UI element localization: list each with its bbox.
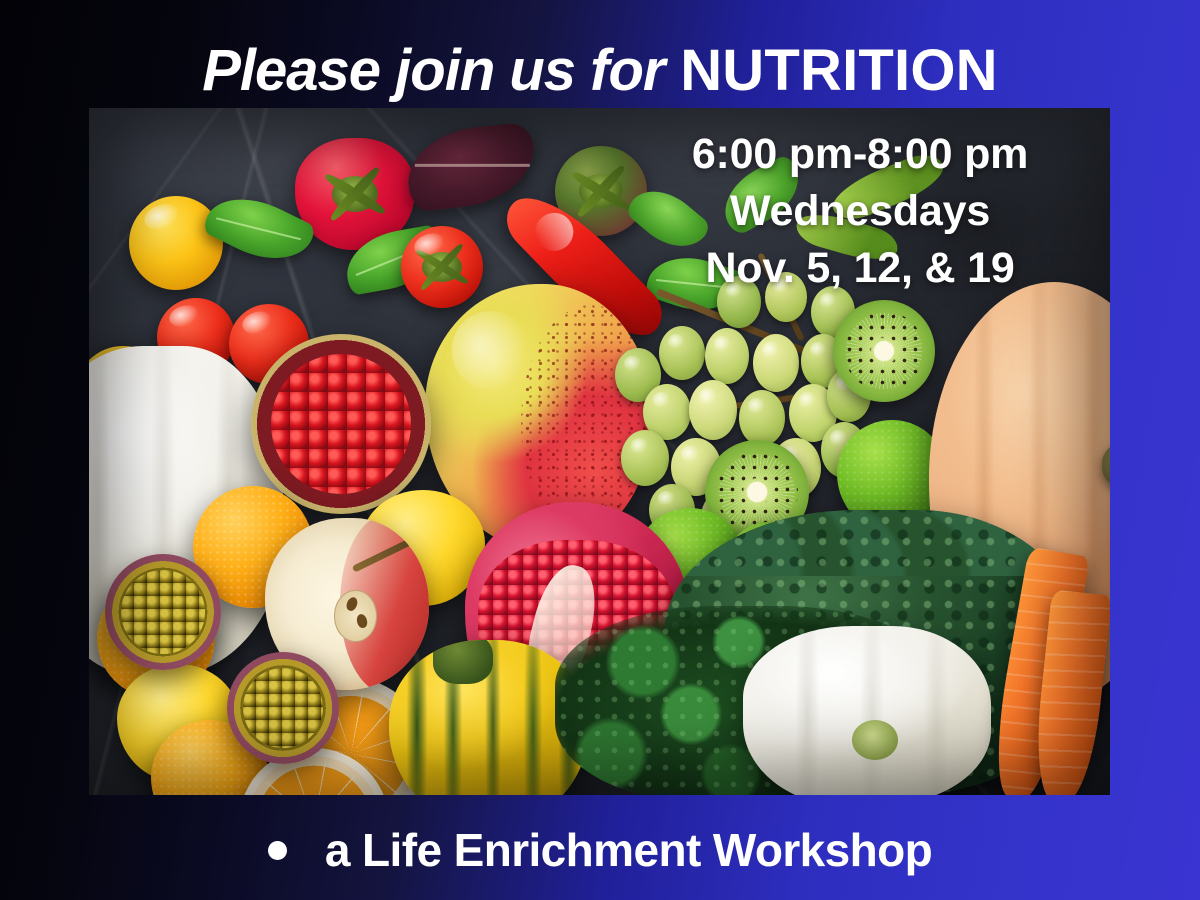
grape-icon	[739, 390, 785, 446]
passion-fruit-pulp	[121, 570, 205, 654]
event-details: 6:00 pm-8:00 pm Wednesdays Nov. 5, 12, &…	[600, 126, 1120, 297]
headline-italic-part: Please join us for	[202, 38, 664, 103]
footer-bullet-line: a Life Enrichment Workshop	[0, 822, 1200, 878]
grape-icon	[621, 430, 669, 486]
headline-caps-part: NUTRITION	[680, 38, 998, 103]
flyer-canvas: Please join us for NUTRITION	[0, 0, 1200, 900]
red-tomato-icon	[401, 226, 483, 308]
kiwi-half-icon	[833, 300, 935, 402]
passion-fruit-half-icon	[105, 554, 221, 670]
event-day: Wednesdays	[600, 183, 1120, 240]
pepper-stem-icon	[332, 176, 378, 212]
pattypan-lobes	[743, 626, 991, 795]
grape-icon	[705, 328, 749, 384]
footer-label: a Life Enrichment Workshop	[325, 822, 932, 878]
passion-fruit-half-icon	[227, 652, 339, 764]
tomato-stem-icon	[422, 252, 462, 282]
page-title: Please join us for NUTRITION	[0, 40, 1200, 102]
grape-icon	[689, 380, 737, 440]
kiwi-seeds	[844, 311, 924, 391]
event-time: 6:00 pm-8:00 pm	[600, 126, 1120, 183]
cranberry-bowl-icon	[251, 334, 431, 514]
apple-stem-icon	[352, 539, 413, 573]
passion-fruit-pulp	[243, 668, 324, 749]
grape-icon	[753, 334, 799, 392]
yellow-tomato-icon	[129, 196, 223, 290]
event-dates: Nov. 5, 12, & 19	[600, 240, 1120, 297]
white-pattypan-squash-icon	[743, 626, 991, 795]
bullet-point-icon	[268, 841, 287, 860]
squash-stem-icon	[433, 640, 493, 684]
grape-icon	[659, 326, 705, 380]
cranberries	[271, 354, 411, 494]
pattypan-stem-icon	[852, 720, 898, 760]
